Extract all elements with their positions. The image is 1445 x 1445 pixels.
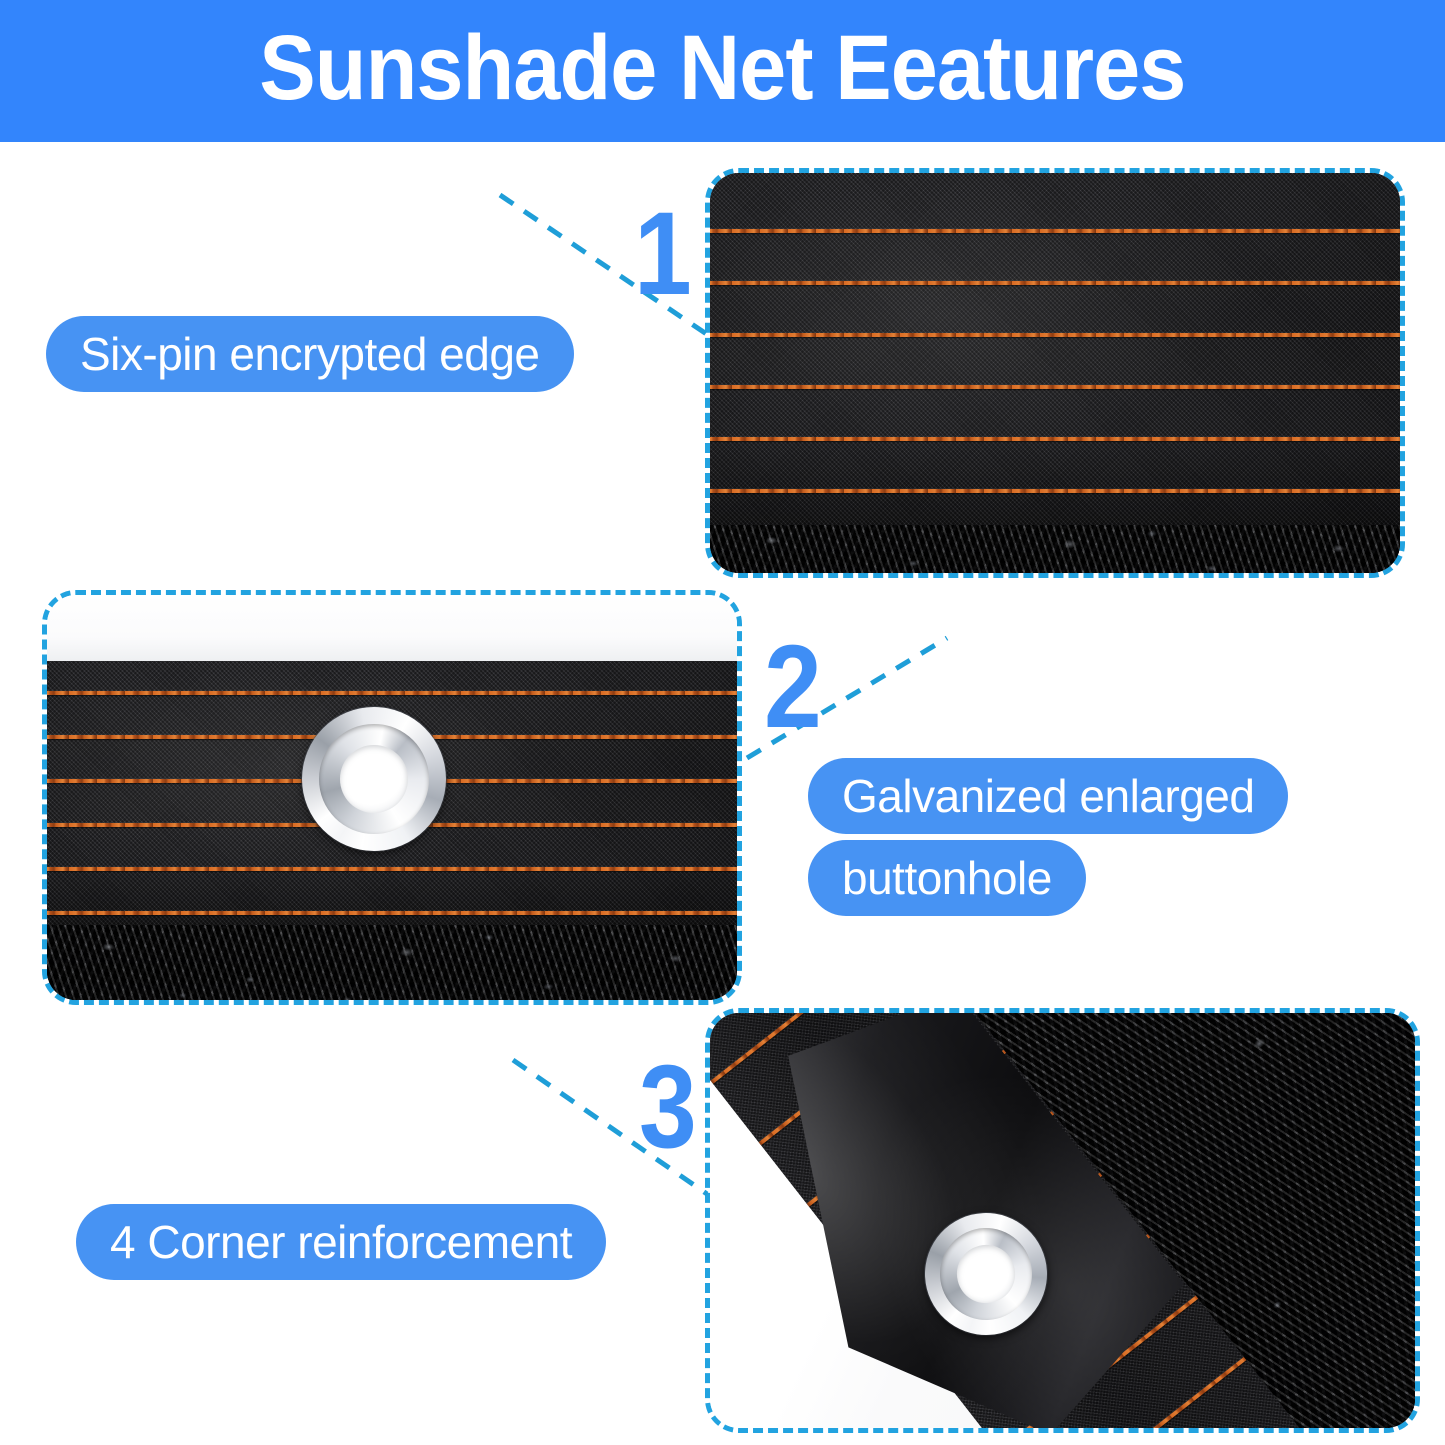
feature-label-2-line-2: buttonhole [808,840,1086,916]
infographic-canvas: Sunshade Net Eeatures 1 Six-pin encrypte… [0,0,1445,1445]
stitch-row [710,281,1400,285]
feature-label-3-text: 4 Corner reinforcement [110,1215,572,1269]
stitch-row [710,489,1400,493]
feature-label-2-line-1-text: Galvanized enlarged [842,769,1254,823]
feature-label-1: Six-pin encrypted edge [46,316,574,392]
shade-mesh-strip [47,925,737,1000]
page-title: Sunshade Net Eeatures [259,22,1185,120]
webbing-band [710,173,1400,531]
feature-label-3: 4 Corner reinforcement [76,1204,606,1280]
stitch-row [710,333,1400,337]
stitch-row [47,867,737,871]
stitch-row [47,911,737,915]
feature-label-2-line-2-text: buttonhole [842,851,1052,905]
stitch-row [710,437,1400,441]
shade-mesh-strip [710,525,1400,573]
header-banner: Sunshade Net Eeatures [0,0,1445,142]
feature-label-2-line-1: Galvanized enlarged [808,758,1288,834]
photo-inner-2 [47,595,737,1000]
grommet-hole [340,745,408,813]
feature-photo-corner-reinforcement [705,1008,1420,1433]
photo-inner-3 [710,1013,1415,1428]
feature-photo-grommet [42,590,742,1005]
grommet-hole [951,1239,1020,1308]
feature-photo-edge-stitching [705,168,1405,578]
step-number-3: 3 [639,1048,697,1166]
stitch-row [47,691,737,695]
grommet-eyelet [302,707,446,851]
photo-backdrop-2 [47,595,737,665]
stitch-row [710,385,1400,389]
step-number-2: 2 [764,628,822,746]
step-number-1: 1 [634,195,692,313]
photo-inner-1 [710,173,1400,573]
feature-label-1-text: Six-pin encrypted edge [80,327,540,381]
stitch-row [710,229,1400,233]
